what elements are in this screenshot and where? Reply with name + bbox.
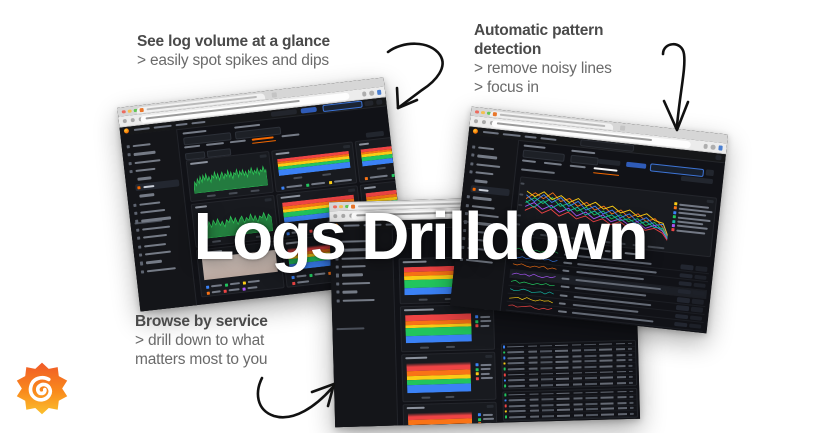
callout-browse-line-1: > drill down to what: [135, 332, 325, 351]
panel-volume-green-1[interactable]: [186, 151, 274, 202]
include-button[interactable]: [679, 273, 692, 279]
grafana-logo-icon[interactable]: [473, 128, 479, 134]
kebab-menu-icon[interactable]: [715, 155, 722, 161]
extension-icons[interactable]: [362, 90, 382, 97]
curved-arrow-up-right-icon: [248, 372, 344, 428]
log-lines-panel-top[interactable]: [501, 340, 637, 390]
tab-logs[interactable]: [522, 159, 536, 163]
favicon: [493, 112, 497, 116]
tab-labels[interactable]: [544, 162, 562, 166]
grafana-logo-icon[interactable]: [124, 128, 130, 134]
tab-patterns-active[interactable]: [593, 167, 617, 172]
panel-volume-rainbow-2[interactable]: [355, 132, 407, 183]
callout-volume-line-1: > easily spot spikes and dips: [137, 52, 397, 71]
label-select[interactable]: [570, 155, 599, 166]
callout-pattern: Automatic pattern detection > remove noi…: [474, 22, 669, 98]
panel-legend[interactable]: [478, 413, 494, 427]
exclude-button[interactable]: [690, 315, 702, 321]
tab-logs[interactable]: [184, 145, 200, 149]
refresh-button[interactable]: [706, 169, 715, 176]
tab-labels[interactable]: [206, 142, 224, 146]
sidebar-item-apps[interactable]: [334, 287, 390, 296]
time-range-picker[interactable]: [650, 163, 705, 177]
log-lines-panel-bottom[interactable]: [502, 388, 638, 422]
callout-browse: Browse by service > drill down to what m…: [135, 313, 325, 370]
noisy-stacked-plot: [408, 411, 473, 426]
callout-volume-heading: See log volume at a glance: [137, 33, 397, 52]
primary-action-button[interactable]: [626, 162, 646, 169]
traffic-lights[interactable]: [122, 108, 138, 113]
sidebar-item-connections[interactable]: [334, 279, 390, 288]
exclude-button[interactable]: [694, 274, 706, 280]
stacked-area-plot: [361, 141, 407, 166]
page-title: Logs Drilldown: [0, 203, 840, 270]
toggle-line-filter[interactable]: [521, 168, 555, 174]
panel-volume-rainbow-1[interactable]: [271, 141, 357, 192]
stacked-area-plot: [405, 313, 472, 343]
new-tab-button[interactable]: [620, 125, 626, 131]
kebab-menu-icon[interactable]: [376, 99, 383, 105]
grafana-logo: [14, 360, 70, 418]
callout-browse-line-2: matters most to you: [135, 351, 325, 370]
open-in-explore-button[interactable]: [681, 176, 713, 184]
callout-pattern-line-1: > remove noisy lines: [474, 60, 669, 79]
exclude-button[interactable]: [688, 331, 700, 333]
panel-service-card-4[interactable]: [403, 402, 498, 427]
tab-fields[interactable]: [570, 165, 586, 169]
include-button[interactable]: [677, 297, 690, 303]
sidebar-item-administration[interactable]: [335, 296, 391, 305]
layout-toggle[interactable]: [366, 131, 384, 138]
promo-banner: Logs Drilldown See log volume at a glanc…: [0, 0, 840, 433]
exclude-button[interactable]: [692, 299, 704, 305]
exclude-button[interactable]: [693, 282, 705, 288]
callout-volume: See log volume at a glance > easily spot…: [137, 33, 397, 71]
extension-icons[interactable]: [703, 144, 723, 151]
panel-legend[interactable]: [475, 315, 491, 328]
callout-pattern-line-2: > focus in: [474, 79, 669, 98]
callout-pattern-heading-line2: detection: [474, 41, 669, 60]
panel-legend[interactable]: [365, 171, 407, 179]
tab-fields[interactable]: [230, 139, 246, 143]
exclude-button[interactable]: [693, 291, 705, 297]
panel-legend[interactable]: [475, 363, 492, 380]
refresh-button[interactable]: [364, 100, 374, 106]
panel-legend[interactable]: [206, 278, 277, 295]
include-button[interactable]: [678, 281, 691, 287]
exclude-button[interactable]: [689, 323, 701, 329]
include-button[interactable]: [676, 305, 689, 311]
include-button[interactable]: [678, 289, 691, 295]
include-button[interactable]: [675, 313, 688, 319]
include-button[interactable]: [673, 330, 686, 334]
panel-service-card-2[interactable]: [400, 304, 495, 353]
noisy-stacked-plot: [406, 361, 471, 393]
new-tab-button[interactable]: [271, 92, 277, 98]
panel-service-card-3[interactable]: [401, 352, 496, 403]
traffic-lights[interactable]: [475, 110, 491, 115]
tab-explore[interactable]: [281, 133, 299, 137]
callout-pattern-heading-line1: Automatic pattern: [474, 22, 669, 41]
exclude-button[interactable]: [691, 307, 703, 313]
deduplicate-toggle[interactable]: [598, 159, 620, 166]
favicon: [139, 108, 143, 112]
callout-browse-heading: Browse by service: [135, 313, 325, 332]
include-button[interactable]: [674, 322, 687, 328]
